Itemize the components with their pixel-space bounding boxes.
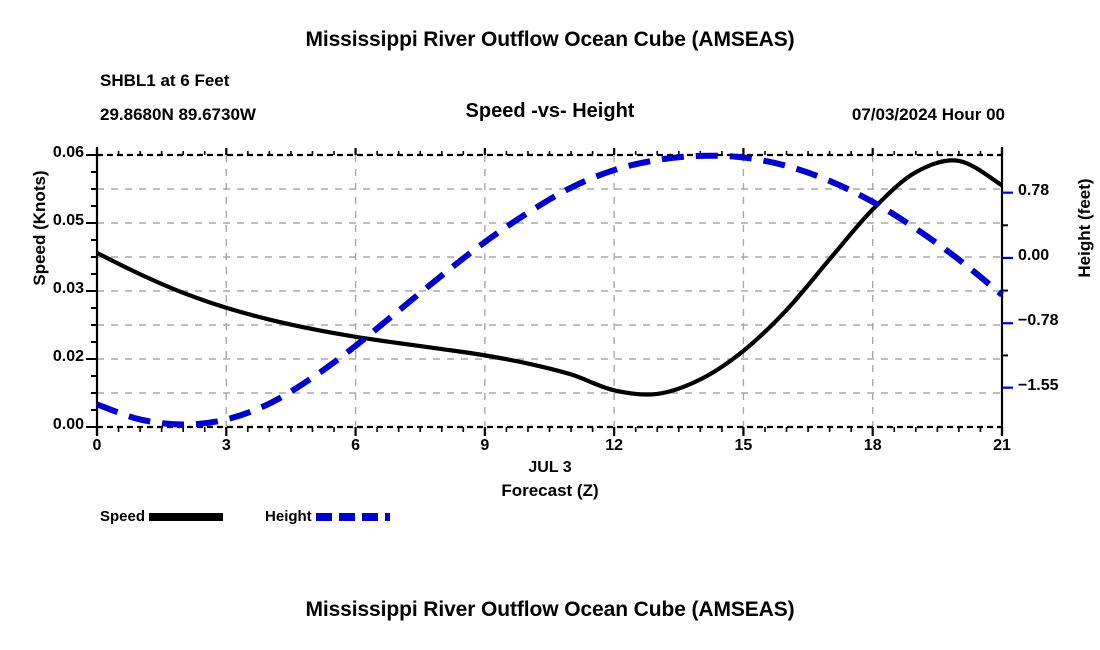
data-series-group [97,156,1002,425]
x-axis-tick-label: 6 [326,437,386,455]
legend-item-speed: Speed [100,508,225,525]
x-axis-label: Forecast (Z) [0,481,1100,501]
y-axis-label-left: Speed (Knots) [30,128,50,328]
legend-label-speed: Speed [100,508,145,525]
x-axis-day-label: JUL 3 [0,459,1100,477]
x-axis-tick-label: 3 [196,437,256,455]
chart-legend: Speed Height [100,508,392,525]
legend-label-height: Height [265,508,312,525]
y-axis-tick-label-right: 0.00 [1018,247,1049,265]
y-axis-tick-label-left: 0.02 [53,348,84,366]
page-title-bottom: Mississippi River Outflow Ocean Cube (AM… [0,598,1100,622]
x-axis-tick-label: 15 [713,437,773,455]
y-axis-tick-label-left: 0.06 [53,144,84,162]
legend-item-height: Height [265,508,392,525]
legend-swatch-speed-icon [147,510,225,524]
series-line-height [97,156,1002,425]
x-axis-tick-label: 18 [843,437,903,455]
y-axis-tick-label-right: 0.78 [1018,182,1049,200]
y-axis-tick-label-left: 0.03 [53,280,84,298]
x-axis-tick-label: 0 [67,437,127,455]
legend-swatch-height-icon [314,510,392,524]
y-axis-tick-label-right: −0.78 [1018,312,1058,330]
plot-svg [0,0,1100,650]
y-axis-tick-label-left: 0.05 [53,212,84,230]
y-axis-tick-label-right: −1.55 [1018,377,1058,395]
x-axis-tick-label: 21 [972,437,1032,455]
y-axis-label-right: Height (feet) [1075,128,1095,328]
plot-area [0,0,1100,650]
chart-page: Mississippi River Outflow Ocean Cube (AM… [0,0,1100,650]
x-axis-tick-label: 9 [455,437,515,455]
x-axis-tick-label: 12 [584,437,644,455]
y-axis-tick-label-left: 0.00 [53,416,84,434]
